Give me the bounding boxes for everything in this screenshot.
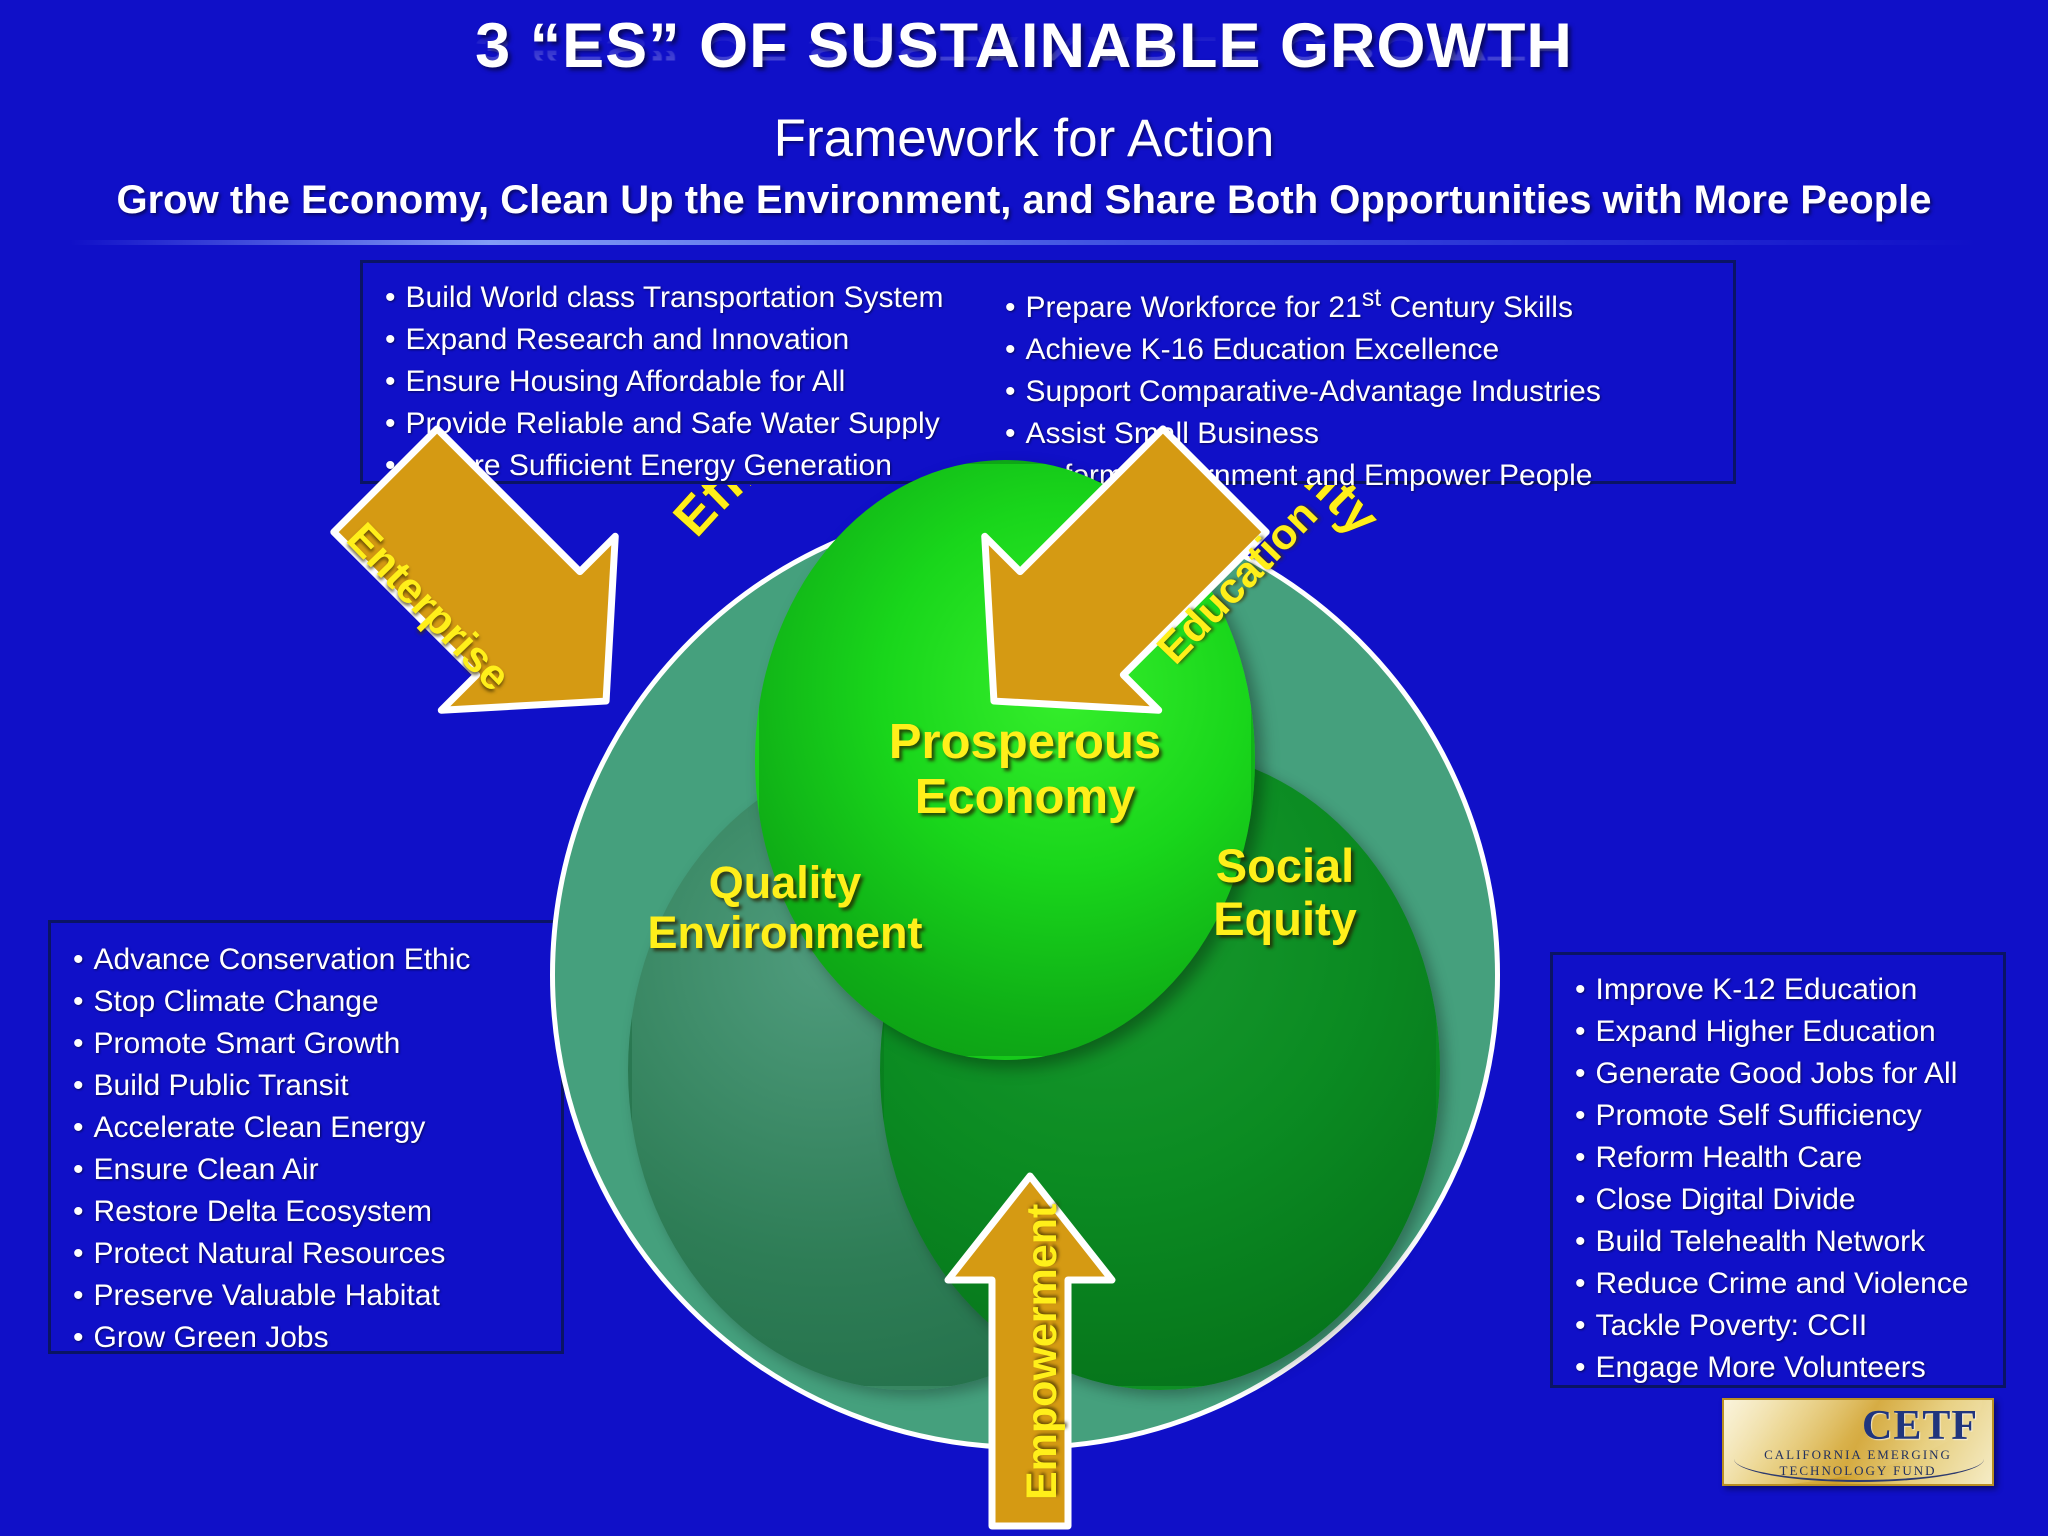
environment-goals-list: Advance Conservation EthicStop Climate C… bbox=[51, 923, 561, 1359]
economy-goal-item: Ensure Housing Affordable for All bbox=[385, 361, 1005, 403]
equity-goal-item: Build Telehealth Network bbox=[1575, 1221, 2003, 1263]
economy-goal-item: Prepare Workforce for 21st Century Skill… bbox=[1005, 277, 1625, 329]
economy-goal-item: Build World class Transportation System bbox=[385, 277, 1005, 319]
ordinal-superscript: st bbox=[1362, 284, 1381, 312]
equity-goal-item: Improve K-12 Education bbox=[1575, 969, 2003, 1011]
environment-goal-item: Accelerate Clean Energy bbox=[73, 1107, 561, 1149]
equity-goals-box: Improve K-12 EducationExpand Higher Educ… bbox=[1550, 952, 2006, 1388]
equity-goal-item: Generate Good Jobs for All bbox=[1575, 1053, 2003, 1095]
economy-label-line2: Economy bbox=[915, 770, 1136, 824]
environment-goal-item: Preserve Valuable Habitat bbox=[73, 1275, 561, 1317]
environment-goal-item: Promote Smart Growth bbox=[73, 1023, 561, 1065]
environment-goal-item: Build Public Transit bbox=[73, 1065, 561, 1107]
equity-goal-item: Reduce Crime and Violence bbox=[1575, 1263, 2003, 1305]
environment-goal-item: Ensure Clean Air bbox=[73, 1149, 561, 1191]
page-title-reflection: 3 “ES” OF SUSTAINABLE GROWTH bbox=[0, 31, 2048, 66]
economy-goal-item: Support Comparative-Advantage Industries bbox=[1005, 371, 1625, 413]
environment-goal-item: Grow Green Jobs bbox=[73, 1317, 561, 1359]
enterprise-arrow[interactable] bbox=[330, 430, 670, 760]
equity-label-line1: Social bbox=[1216, 839, 1354, 892]
equity-goal-item: Reform Health Care bbox=[1575, 1137, 2003, 1179]
equity-goal-item: Close Digital Divide bbox=[1575, 1179, 2003, 1221]
cetf-logo[interactable]: CETF CALIFORNIA EMERGING TECHNOLOGY FUND bbox=[1722, 1398, 1994, 1486]
equity-goal-item: Engage More Volunteers bbox=[1575, 1347, 2003, 1389]
environment-goal-item: Protect Natural Resources bbox=[73, 1233, 561, 1275]
equity-goal-item: Expand Higher Education bbox=[1575, 1011, 2003, 1053]
logo-mark-text: CETF bbox=[1862, 1402, 1978, 1450]
equity-goals-list: Improve K-12 EducationExpand Higher Educ… bbox=[1553, 955, 2003, 1389]
header-divider bbox=[70, 240, 1980, 245]
page-subtitle: Framework for Action bbox=[0, 108, 2048, 169]
environment-goal-item: Stop Climate Change bbox=[73, 981, 561, 1023]
empowerment-arrow-label: Empowerment bbox=[1018, 1204, 1067, 1500]
equity-goal-item: Promote Self Sufficiency bbox=[1575, 1095, 2003, 1137]
page-tagline: Grow the Economy, Clean Up the Environme… bbox=[0, 178, 2048, 223]
logo-name-text: CALIFORNIA EMERGING TECHNOLOGY FUND bbox=[1732, 1447, 1984, 1479]
environment-goal-item: Restore Delta Ecosystem bbox=[73, 1191, 561, 1233]
economy-goal-item: Expand Research and Innovation bbox=[385, 319, 1005, 361]
economy-goal-item: Achieve K-16 Education Excellence bbox=[1005, 329, 1625, 371]
environment-goals-box: Advance Conservation EthicStop Climate C… bbox=[48, 920, 564, 1354]
social-equity-label: Social Equity bbox=[810, 840, 1760, 945]
slide-canvas: 3 “ES” OF SUSTAINABLE GROWTH 3 “ES” OF S… bbox=[0, 0, 2048, 1536]
equity-goal-item: Tackle Poverty: CCII bbox=[1575, 1305, 2003, 1347]
equity-label-line2: Equity bbox=[1213, 892, 1357, 945]
